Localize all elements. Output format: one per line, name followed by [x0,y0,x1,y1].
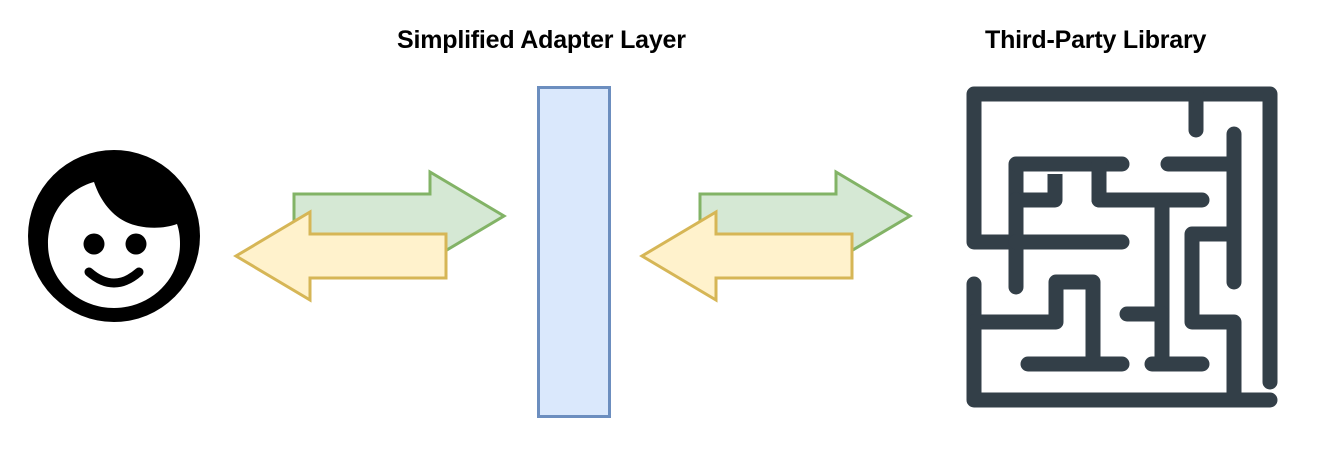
user-right-eye [126,234,147,255]
user-node [26,148,202,324]
connection-adapter-to-library [638,164,918,304]
user-left-eye [84,234,105,255]
user-face-icon [26,148,202,324]
third-party-library-node [962,82,1282,412]
connection-user-to-adapter [232,164,512,304]
maze-icon [962,82,1282,412]
diagram-canvas: Simplified Adapter Layer Third-Party Lib… [0,0,1325,449]
bidirectional-arrow-group [638,164,918,304]
adapter-layer-title: Simplified Adapter Layer [397,28,686,53]
adapter-layer-bar [537,86,611,418]
third-party-library-title: Third-Party Library [985,28,1206,53]
bidirectional-arrow-group [232,164,512,304]
